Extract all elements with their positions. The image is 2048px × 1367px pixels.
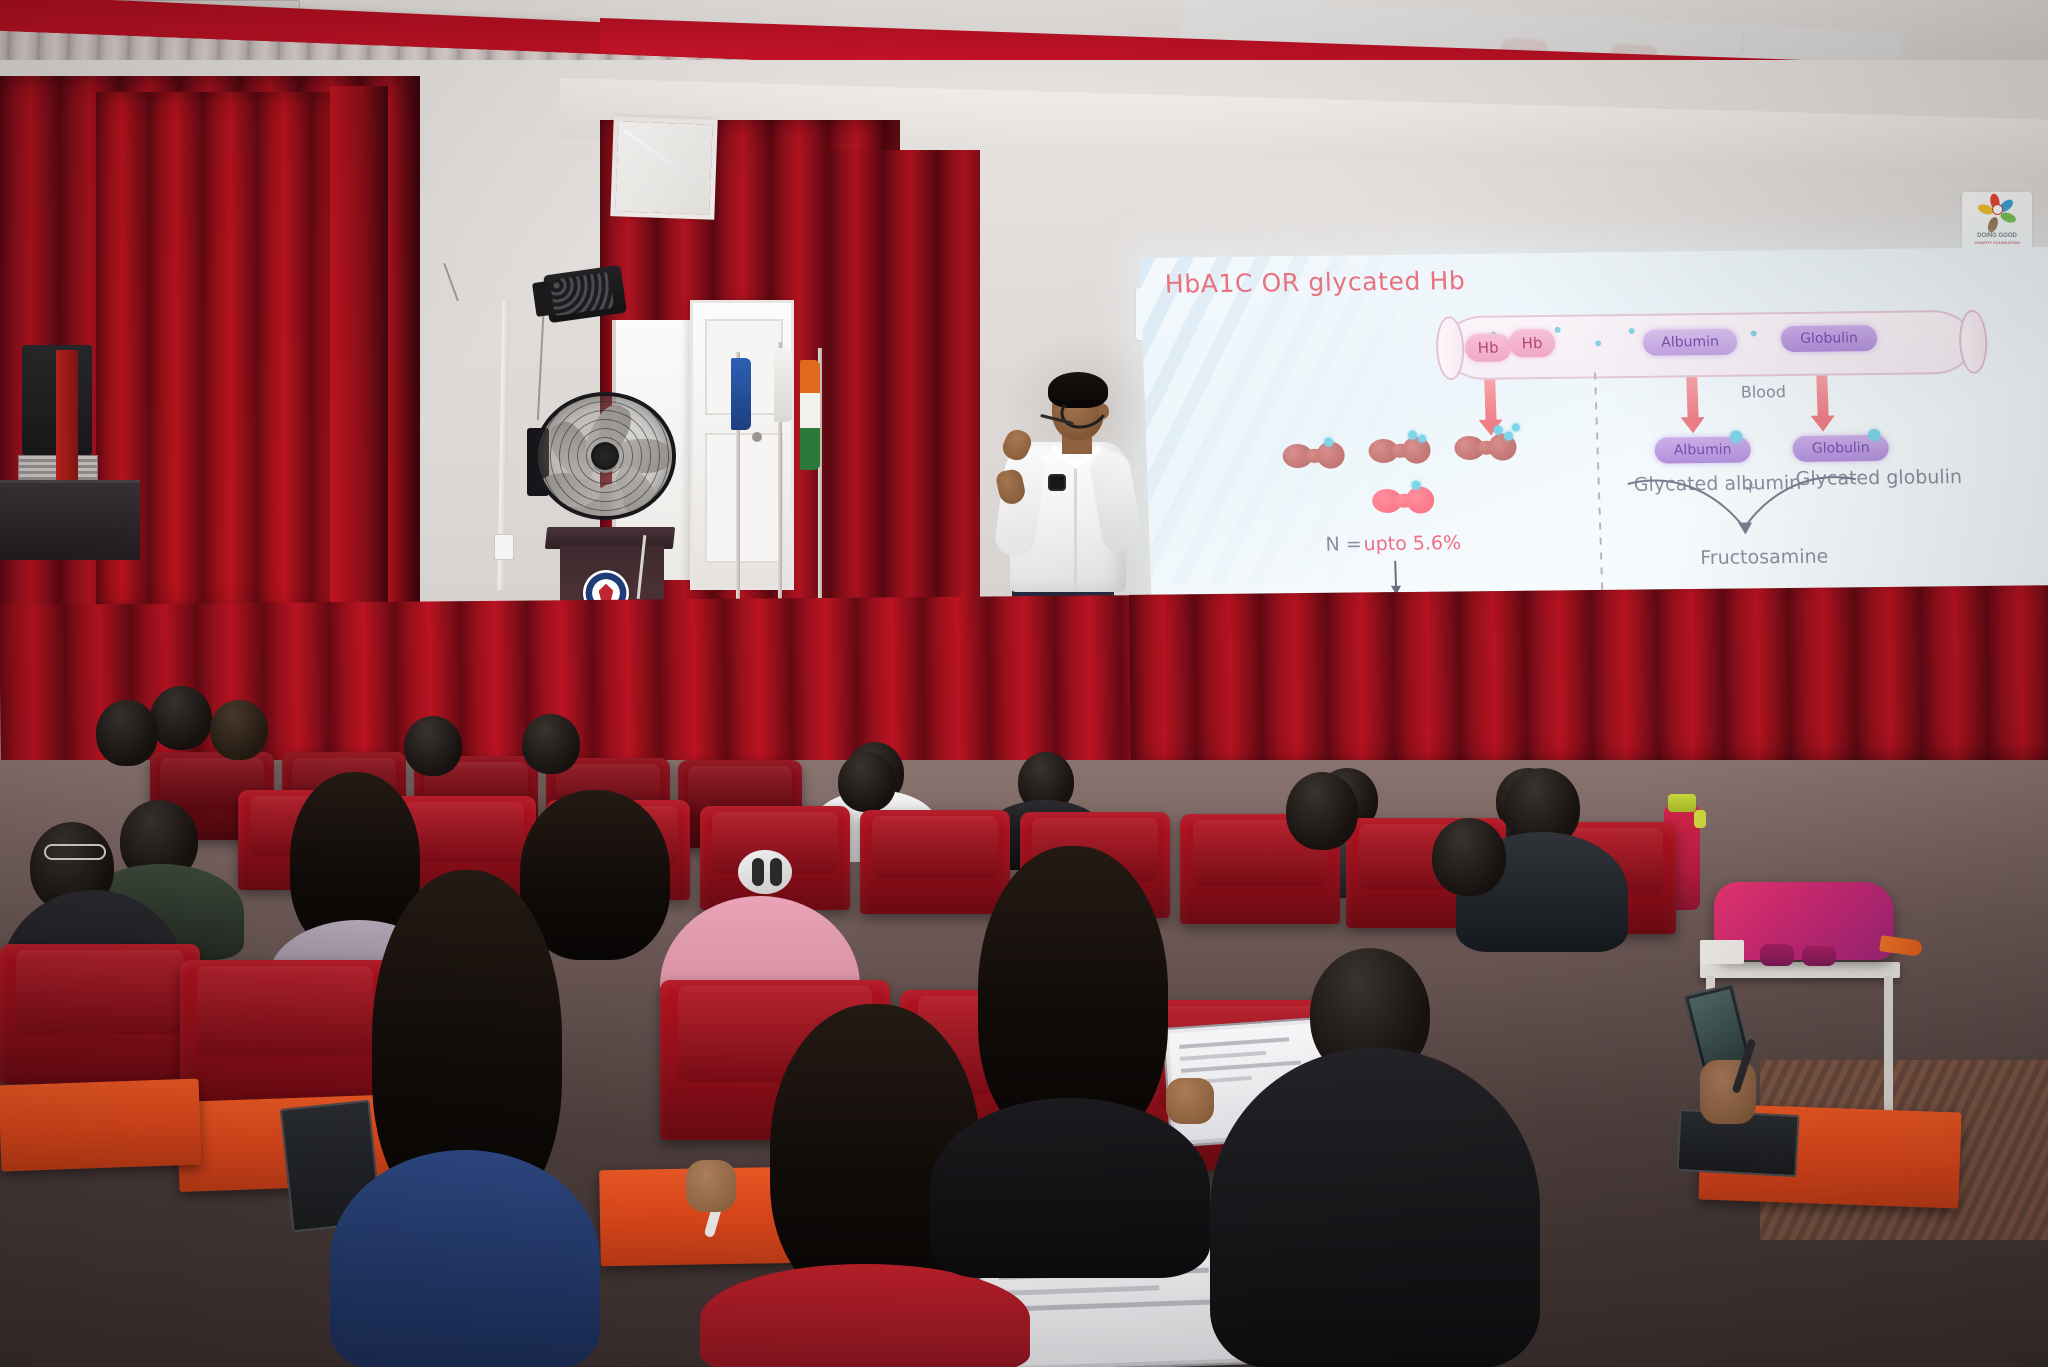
albumin-pill-blood: Albumin bbox=[1643, 329, 1738, 356]
presenter-shirt-placket bbox=[1074, 464, 1077, 590]
normal-value-prefix: N = bbox=[1325, 533, 1362, 555]
curtain-stage-right bbox=[830, 150, 980, 630]
paper-on-table bbox=[1700, 940, 1744, 964]
blood-label: Blood bbox=[1740, 382, 1786, 402]
high-window bbox=[610, 116, 717, 220]
flag-tricolour bbox=[800, 360, 820, 470]
audience-shoulders bbox=[930, 1098, 1210, 1278]
water-bottle-cap bbox=[1668, 794, 1696, 812]
presenter-wristwatch bbox=[1048, 474, 1066, 491]
projection-screen: HbA1C OR glycated Hb Hb Hb Albumin Globu… bbox=[1140, 247, 2048, 638]
hb-pill-1: Hb bbox=[1465, 333, 1512, 362]
hair-clip bbox=[738, 850, 792, 894]
wall-logo-right: DOING GOOD CHARITY FOUNDATION bbox=[1962, 192, 2032, 250]
normal-value-number: upto 5.6% bbox=[1363, 532, 1461, 555]
audience-shoulders-red bbox=[700, 1264, 1030, 1367]
fructosamine-label: Fructosamine bbox=[1700, 546, 1829, 570]
audience-shoulders bbox=[1210, 1048, 1540, 1367]
door-panel-lower bbox=[705, 433, 783, 563]
wall-switch-box bbox=[494, 534, 514, 560]
fan-guard bbox=[534, 392, 676, 520]
side-table-top bbox=[1700, 962, 1900, 978]
audience-head bbox=[150, 686, 212, 750]
side-table-leg-right bbox=[1884, 976, 1893, 1126]
curtain-left-edge bbox=[330, 86, 388, 616]
rbc-1 bbox=[1282, 441, 1345, 470]
slide-title: HbA1C OR glycated Hb bbox=[1164, 266, 1465, 299]
audience-head bbox=[1432, 818, 1506, 896]
audience-hand bbox=[686, 1160, 736, 1212]
door-knob[interactable] bbox=[752, 432, 762, 442]
globulin-pill-blood: Globulin bbox=[1781, 325, 1878, 352]
audience-shoulders-blue bbox=[330, 1150, 600, 1367]
audience-head bbox=[404, 716, 462, 776]
merge-arrow-svg bbox=[1617, 463, 1879, 538]
flag-white bbox=[774, 348, 792, 422]
wall-logo-right-text: DOING GOOD CHARITY FOUNDATION bbox=[1962, 233, 2032, 246]
audience-hand bbox=[1166, 1078, 1214, 1124]
audience-head bbox=[1286, 772, 1358, 850]
writing-desk-board[interactable] bbox=[0, 1079, 201, 1172]
rbc-bright bbox=[1372, 486, 1435, 515]
seat[interactable] bbox=[860, 810, 1010, 914]
backpack-strap-right bbox=[1802, 946, 1836, 966]
seat[interactable] bbox=[180, 960, 390, 1110]
seat[interactable] bbox=[0, 944, 200, 1084]
audience-hand bbox=[1700, 1060, 1756, 1124]
stage-curtain-skirt-right bbox=[1129, 585, 2048, 775]
flag-blue bbox=[731, 358, 751, 430]
eyeglasses-icon bbox=[44, 844, 106, 860]
audience-head bbox=[522, 714, 580, 774]
arrow-hb-to-glycated bbox=[1484, 380, 1496, 422]
audience-head bbox=[838, 752, 896, 812]
arrow-albumin-to-glycated bbox=[1686, 377, 1698, 419]
lecture-hall-screenshot: DOING GOOD CHARITY FOUNDATION DOING GOOD… bbox=[0, 0, 2048, 1367]
hb-pill-2: Hb bbox=[1509, 329, 1556, 358]
arrow-globulin-to-glycated bbox=[1816, 376, 1828, 418]
audience-head bbox=[96, 700, 158, 766]
plus-sign: + bbox=[1744, 478, 1757, 496]
side-desk-left bbox=[0, 480, 140, 560]
bottle-loop bbox=[1694, 810, 1706, 828]
backpack-strap-left bbox=[1760, 944, 1794, 966]
audience-head bbox=[210, 700, 268, 760]
